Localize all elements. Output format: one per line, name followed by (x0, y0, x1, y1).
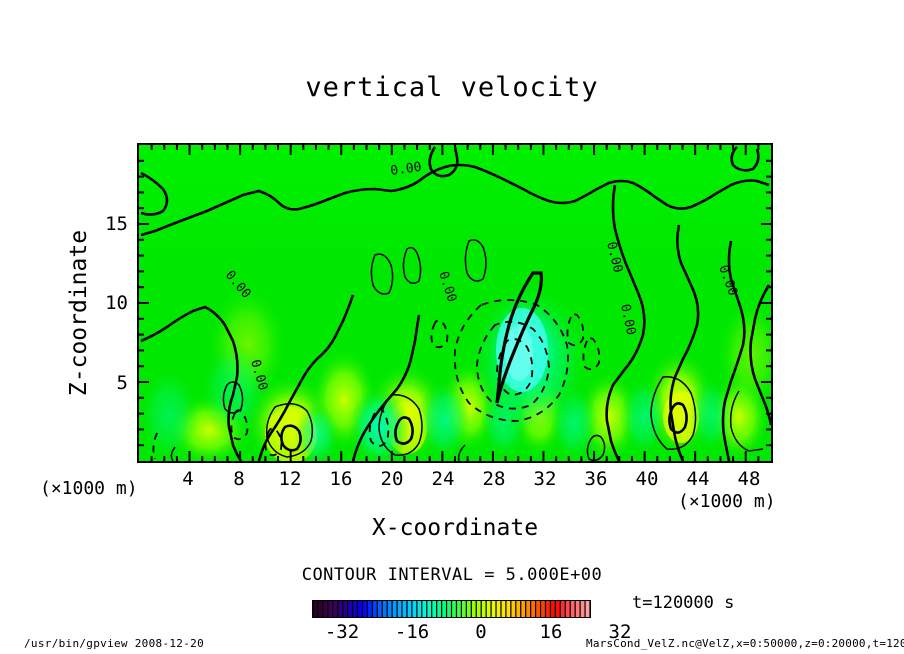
x-tick-label: 36 (578, 468, 614, 490)
x-tick-label: 48 (731, 468, 767, 490)
y-axis-label: Z-coordinate (66, 203, 92, 423)
axis-tick-marks (137, 143, 773, 463)
x-axis-label: X-coordinate (137, 515, 773, 541)
y-tick-label: 15 (92, 213, 128, 235)
x-tick-label: 12 (272, 468, 308, 490)
colorbar-swatches (313, 601, 590, 617)
x-tick-label: 16 (323, 468, 359, 490)
time-label: t=120000 s (632, 593, 734, 613)
y-tick-label: 5 (92, 372, 128, 394)
x-tick-label: 24 (425, 468, 461, 490)
footer-command: /usr/bin/gpview 2008-12-20 (24, 637, 204, 650)
x-axis-unit: (×1000 m) (678, 491, 776, 512)
y-tick-label: 10 (92, 292, 128, 314)
colorbar-tick-label: -16 (395, 621, 429, 643)
page-title: vertical velocity (0, 72, 904, 103)
colorbar-tick-label: -32 (325, 621, 359, 643)
contour-interval-label: CONTOUR INTERVAL = 5.000E+00 (0, 565, 904, 585)
footer-dataset: MarsCond_VelZ.nc@VelZ,x=0:50000,z=0:2000… (586, 637, 904, 650)
x-tick-label: 32 (527, 468, 563, 490)
colorbar-tick-label: 0 (475, 621, 486, 643)
x-tick-label: 40 (629, 468, 665, 490)
colorbar-tick-labels: -32 -16 0 16 32 (282, 621, 622, 645)
colorbar-tick-label: 16 (540, 621, 563, 643)
x-tick-label: 8 (221, 468, 257, 490)
y-axis-unit: (×1000 m) (40, 478, 138, 499)
x-tick-label: 28 (476, 468, 512, 490)
x-tick-label: 4 (170, 468, 206, 490)
x-tick-label: 44 (680, 468, 716, 490)
x-tick-label: 20 (374, 468, 410, 490)
colorbar[interactable] (312, 600, 591, 618)
